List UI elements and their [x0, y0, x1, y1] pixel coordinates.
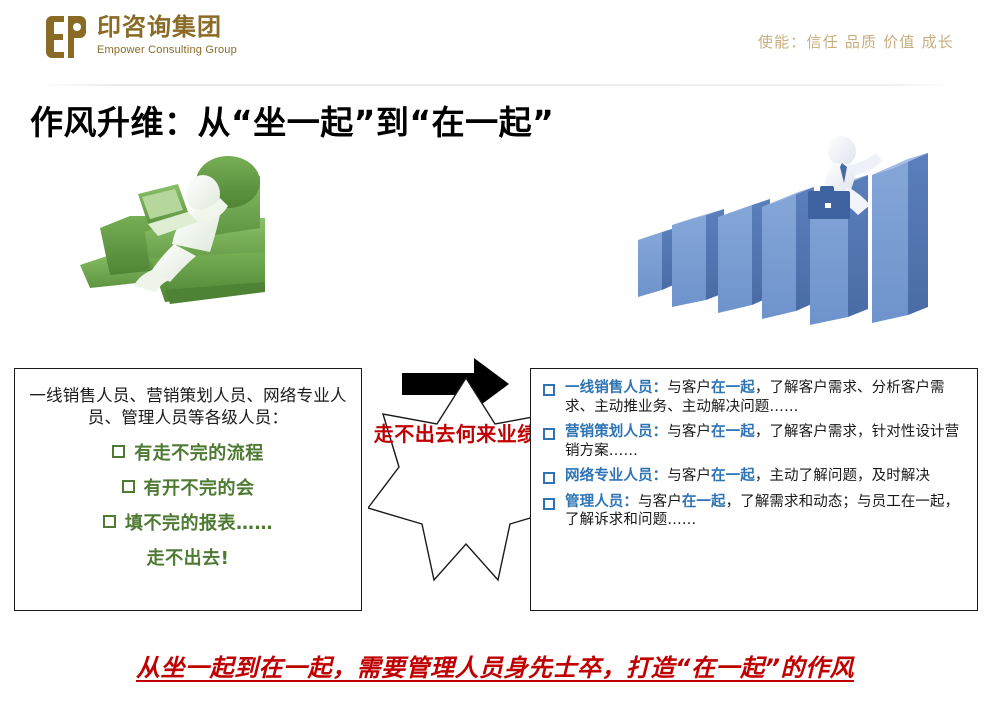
body-pre: 与客户: [667, 468, 711, 484]
square-bullet-icon: [112, 445, 125, 458]
role-separator: ：: [653, 380, 668, 396]
role-label: 营销策划人员: [565, 424, 653, 440]
role-separator: ：: [653, 468, 668, 484]
square-bullet-icon: [103, 515, 116, 528]
slide-header: 印咨询集团 Empower Consulting Group 使能：信任 品质 …: [0, 0, 990, 86]
list-item-label: 填不完的报表……: [125, 509, 273, 535]
square-bullet-icon: [122, 480, 135, 493]
illustration-row: “坐一起”作风 “在一起”作风: [0, 135, 990, 355]
brand-logo: 印咨询集团 Empower Consulting Group: [44, 14, 237, 62]
list-item: 有走不完的流程: [27, 439, 349, 465]
square-bullet-icon: [543, 498, 555, 510]
list-item-label: 营销策划人员：与客户在一起，了解客户需求，针对性设计营销方案……: [565, 423, 969, 460]
square-bullet-icon: [543, 384, 555, 396]
problem-box: 一线销售人员、营销策划人员、网络专业人员、管理人员等各级人员： 有走不完的流程 …: [14, 368, 362, 611]
list-item-label: 有走不完的流程: [134, 439, 264, 465]
body-post: ，主动了解问题，及时解决: [755, 468, 930, 484]
list-item: 网络专业人员：与客户在一起，主动了解问题，及时解决: [541, 467, 969, 486]
role-separator: ：: [653, 424, 668, 440]
solution-box: 一线销售人员：与客户在一起，了解客户需求、分析客户需求、主动推业务、主动解决问题…: [530, 368, 978, 611]
logo-chinese-name: 印咨询集团: [97, 15, 237, 40]
empower-logo-icon: [44, 14, 88, 62]
logo-english-name: Empower Consulting Group: [97, 44, 237, 56]
list-item-label: 管理人员：与客户在一起，了解需求和动态；与员工在一起，了解诉求和问题……: [565, 493, 969, 530]
square-bullet-icon: [543, 428, 555, 440]
footer-conclusion-banner: 从坐一起到在一起，需要管理人员身先士卒，打造“在一起”的作风: [0, 648, 990, 683]
square-bullet-icon: [543, 472, 555, 484]
highlight-text: 在一起: [711, 380, 755, 396]
list-item-label: 有开不完的会: [144, 474, 255, 500]
list-item-label: 一线销售人员：与客户在一起，了解客户需求、分析客户需求、主动推业务、主动解决问题…: [565, 379, 969, 416]
person-sitting-on-sofa-icon: [70, 140, 370, 330]
highlight-text: 在一起: [682, 494, 726, 510]
brand-tagline: 使能：信任 品质 价值 成长: [758, 31, 954, 52]
highlight-text: 在一起: [711, 468, 755, 484]
list-item: 有开不完的会: [27, 474, 349, 500]
role-label: 管理人员：: [565, 494, 638, 510]
problem-intro-text: 一线销售人员、营销策划人员、网络专业人员、管理人员等各级人员：: [27, 385, 349, 430]
list-item: 一线销售人员：与客户在一起，了解客户需求、分析客户需求、主动推业务、主动解决问题…: [541, 379, 969, 416]
list-item-label: 网络专业人员：与客户在一起，主动了解问题，及时解决: [565, 467, 930, 486]
body-pre: 与客户: [667, 424, 711, 440]
body-pre: 与客户: [638, 494, 682, 510]
list-item: 管理人员：与客户在一起，了解需求和动态；与员工在一起，了解诉求和问题……: [541, 493, 969, 530]
body-pre: 与客户: [667, 380, 711, 396]
highlight-text: 在一起: [711, 424, 755, 440]
role-label: 网络专业人员: [565, 468, 653, 484]
list-item: 营销策划人员：与客户在一起，了解客户需求，针对性设计营销方案……: [541, 423, 969, 460]
role-label: 一线销售人员: [565, 380, 653, 396]
list-item: 填不完的报表……: [27, 509, 349, 535]
problem-conclusion-text: 走不出去!: [27, 544, 349, 570]
header-divider: [40, 84, 955, 86]
person-climbing-bars-icon: [620, 135, 960, 335]
logo-text-block: 印咨询集团 Empower Consulting Group: [97, 14, 237, 56]
